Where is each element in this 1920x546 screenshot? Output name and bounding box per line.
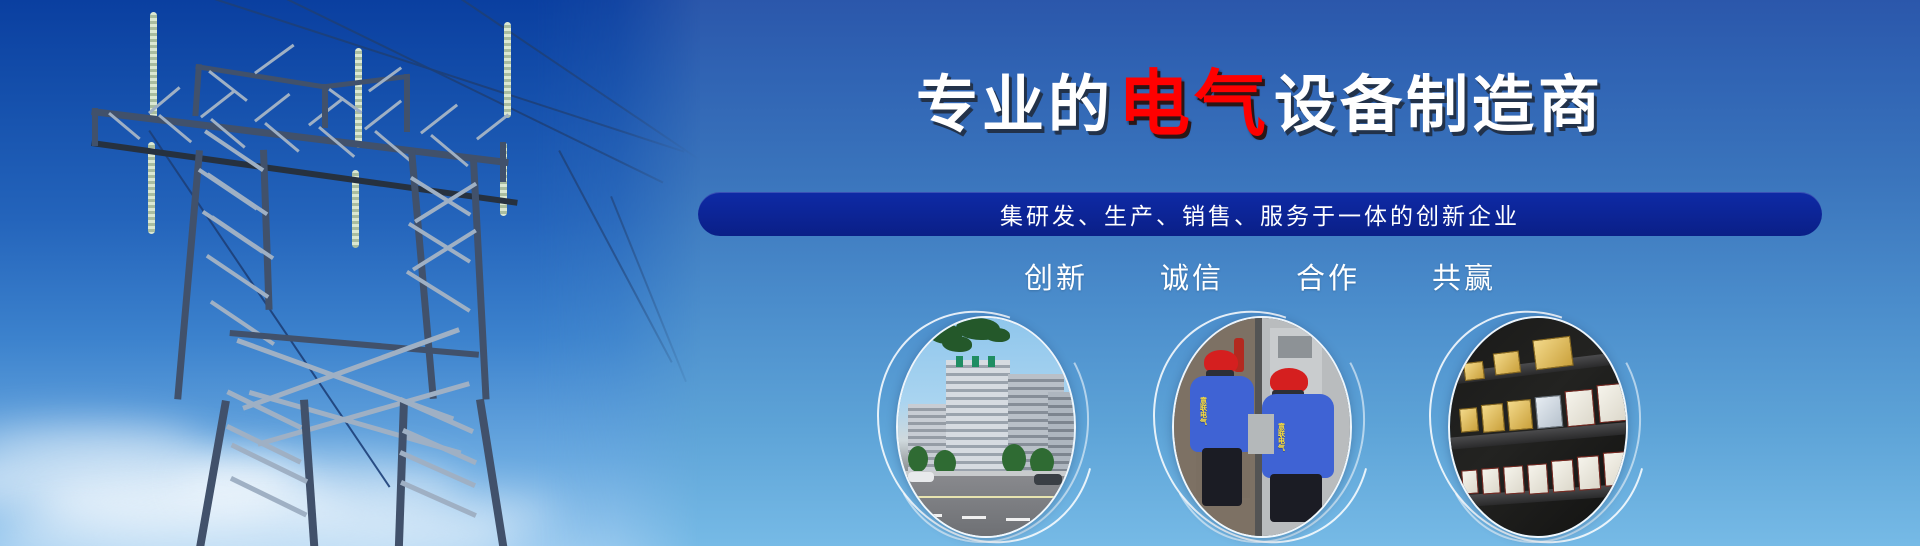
photo-circle-group: 意联电气 意联电气 <box>660 316 1860 534</box>
uniform-badge-right: 意联电气 <box>1278 424 1286 452</box>
photo-frame <box>896 316 1076 538</box>
banner-content: 专业的电气设备制造商 集研发、生产、销售、服务于一体的创新企业 创新 诚信 合作… <box>660 0 1920 546</box>
transmission-tower-photo <box>0 0 700 546</box>
keyword-item: 合作 <box>1296 255 1360 297</box>
keyword-item: 共赢 <box>1432 255 1496 297</box>
headline-part-1: 专业的 <box>916 68 1114 141</box>
office-building-scene <box>898 318 1074 536</box>
keyword-list: 创新 诚信 合作 共赢 <box>660 255 1860 297</box>
keyword-item: 诚信 <box>1160 255 1224 297</box>
photo-frame <box>1448 316 1628 538</box>
photo-circle-workers: 意联电气 意联电气 <box>1172 316 1348 534</box>
uniform-badge-left: 意联电气 <box>1200 398 1208 426</box>
subtitle-text: 集研发、生产、销售、服务于一体的创新企业 <box>1000 197 1520 231</box>
certificate-wall-scene <box>1450 318 1626 536</box>
headline-part-2-highlight: 电气 <box>1114 62 1274 146</box>
keyword-item: 创新 <box>1024 255 1088 297</box>
headline-part-3: 设备制造商 <box>1274 68 1604 141</box>
tower-structure <box>0 0 700 546</box>
page-title: 专业的电气设备制造商 <box>660 68 1860 140</box>
photo-circle-certificates <box>1448 316 1624 534</box>
hero-banner: 专业的电气设备制造商 集研发、生产、销售、服务于一体的创新企业 创新 诚信 合作… <box>0 0 1920 546</box>
photo-frame: 意联电气 意联电气 <box>1172 316 1352 538</box>
subtitle-pill: 集研发、生产、销售、服务于一体的创新企业 <box>698 192 1822 236</box>
workers-scene: 意联电气 意联电气 <box>1174 318 1350 536</box>
photo-circle-office-building <box>896 316 1072 534</box>
